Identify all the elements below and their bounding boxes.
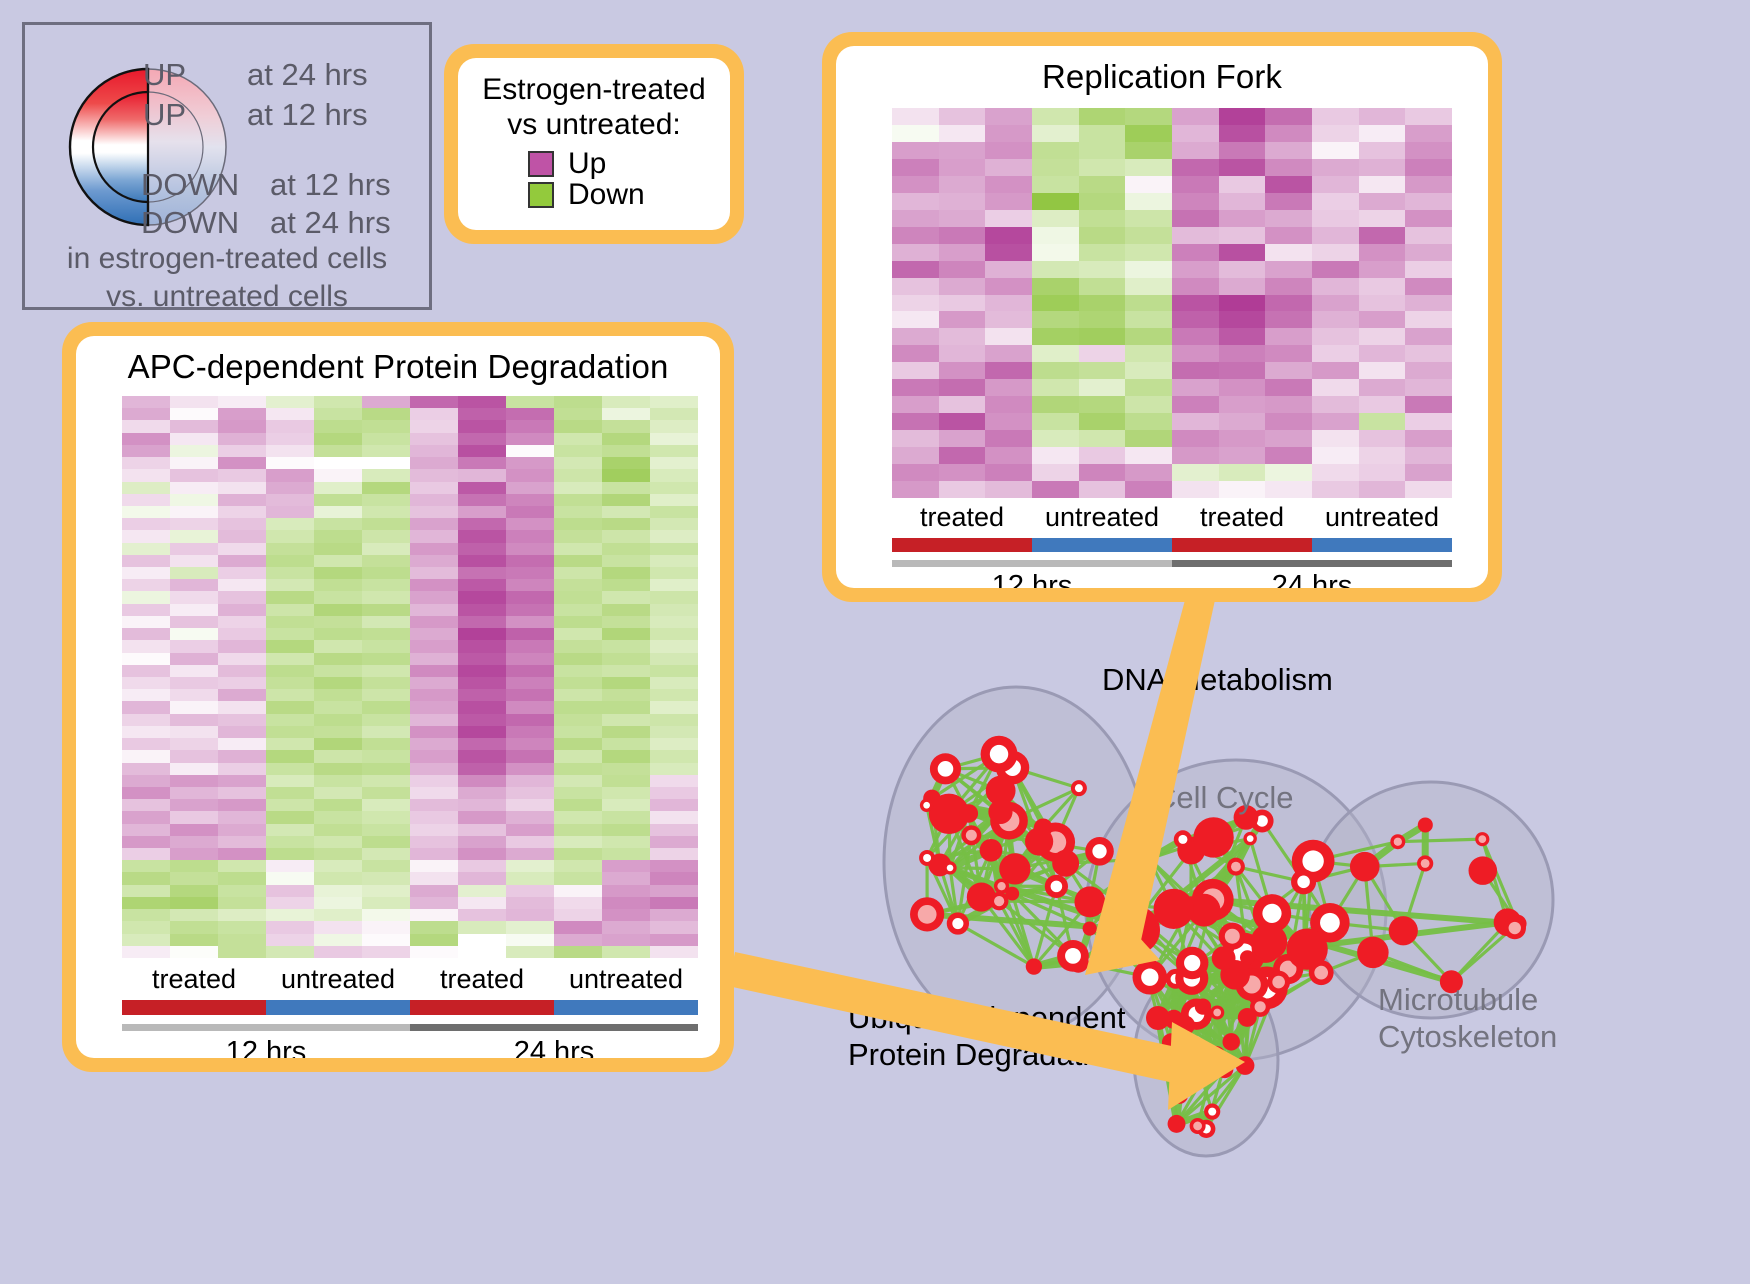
heatmap-cell: [218, 750, 266, 762]
heatmap-cell: [170, 665, 218, 677]
heatmap-cell: [170, 848, 218, 860]
heatmap-cell: [1359, 244, 1406, 261]
heatmap-cell: [314, 543, 362, 555]
heatmap-cell: [218, 860, 266, 872]
heatmap-cell: [362, 408, 410, 420]
heatmap-cell: [122, 726, 170, 738]
network-node: [1389, 916, 1418, 945]
heatmap-cell: [410, 604, 458, 616]
heatmap-cell: [362, 433, 410, 445]
heatmap-cell: [1405, 210, 1452, 227]
heatmap-cell: [122, 494, 170, 506]
heatmap-cell: [170, 408, 218, 420]
heatmap-cell: [458, 518, 506, 530]
apc-group-labels: treated untreated treated untreated: [122, 964, 698, 995]
heatmap-cell: [1172, 311, 1219, 328]
heatmap-cell: [1079, 413, 1126, 430]
apc-group-label-untreated-24: untreated: [554, 964, 698, 995]
heatmap-cell: [170, 885, 218, 897]
heatmap-cell: [602, 420, 650, 432]
heatmap-cell: [266, 763, 314, 775]
heatmap-cell: [266, 543, 314, 555]
heatmap-cell: [362, 848, 410, 860]
heatmap-cell: [266, 738, 314, 750]
heatmap-cell: [554, 653, 602, 665]
heatmap-cell: [218, 787, 266, 799]
heatmap-cell: [506, 396, 554, 408]
heatmap-cell: [410, 640, 458, 652]
heatmap-cell: [266, 591, 314, 603]
heatmap-cell: [1312, 481, 1359, 498]
network-node: [1083, 921, 1097, 935]
heatmap-cell: [218, 433, 266, 445]
heatmap-cell: [362, 567, 410, 579]
legend-heading: Estrogen-treated vs untreated:: [468, 72, 720, 143]
bar-treated-12: [892, 538, 1032, 552]
heatmap-cell: [266, 921, 314, 933]
heatmap-cell: [362, 543, 410, 555]
heatmap-cell: [170, 543, 218, 555]
heatmap-cell: [170, 860, 218, 872]
heatmap-cell: [218, 897, 266, 909]
network-node: [1193, 817, 1233, 857]
heatmap-cell: [458, 909, 506, 921]
heatmap-cell: [939, 295, 986, 312]
heatmap-cell: [362, 909, 410, 921]
heatmap-cell: [458, 506, 506, 518]
heatmap-cell: [602, 665, 650, 677]
heatmap-cell: [985, 328, 1032, 345]
heatmap-cell: [218, 579, 266, 591]
network-node: [1025, 827, 1053, 855]
heatmap-cell: [122, 750, 170, 762]
heatmap-cell: [1172, 176, 1219, 193]
heatmap-cell: [314, 836, 362, 848]
heatmap-cell: [218, 420, 266, 432]
heatmap-cell: [892, 193, 939, 210]
heatmap-cell: [1172, 108, 1219, 125]
heatmap-cell: [1079, 108, 1126, 125]
heatmap-cell: [506, 909, 554, 921]
heatmap-cell: [410, 872, 458, 884]
heatmap-cell: [506, 848, 554, 860]
heatmap-cell: [410, 848, 458, 860]
heatmap-cell: [266, 518, 314, 530]
heatmap-cell: [122, 934, 170, 946]
heatmap-cell: [554, 445, 602, 457]
heatmap-cell: [985, 176, 1032, 193]
apc-group-label-treated-24: treated: [410, 964, 554, 995]
heatmap-cell: [506, 738, 554, 750]
pathway-network-diagram: DNA Metabolism Cell Cycle Microtubule Cy…: [806, 600, 1750, 1279]
heatmap-cell: [410, 469, 458, 481]
heatmap-cell: [458, 726, 506, 738]
heatmap-cell: [266, 665, 314, 677]
network-node-core: [994, 896, 1004, 906]
replication-fork-title: Replication Fork: [836, 46, 1488, 96]
heatmap-cell: [650, 860, 698, 872]
heatmap-cell: [266, 934, 314, 946]
heatmap-cell: [602, 848, 650, 860]
heatmap-cell: [1312, 108, 1359, 125]
heatmap-cell: [1359, 159, 1406, 176]
heatmap-cell: [554, 604, 602, 616]
heatmap-cell: [650, 811, 698, 823]
heatmap-cell: [554, 494, 602, 506]
heatmap-cell: [362, 653, 410, 665]
heatmap-cell: [554, 872, 602, 884]
heatmap-cell: [362, 897, 410, 909]
network-node-core: [1075, 784, 1083, 792]
heatmap-cell: [554, 665, 602, 677]
replication-fork-treatment-bar: [892, 538, 1452, 552]
heatmap-cell: [985, 159, 1032, 176]
apc-heatmap: [122, 396, 698, 958]
heatmap-cell: [554, 518, 602, 530]
heatmap-cell: [1312, 193, 1359, 210]
heatmap-cell: [602, 628, 650, 640]
network-node: [1162, 1033, 1180, 1051]
heatmap-cell: [1359, 142, 1406, 159]
heatmap-cell: [170, 701, 218, 713]
heatmap-cell: [892, 481, 939, 498]
heatmap-cell: [554, 750, 602, 762]
network-node-core: [923, 802, 930, 809]
heatmap-cell: [458, 860, 506, 872]
heatmap-cell: [602, 433, 650, 445]
heatmap-cell: [362, 579, 410, 591]
heatmap-cell: [506, 420, 554, 432]
heatmap-cell: [458, 824, 506, 836]
network-node-core: [1213, 1009, 1221, 1017]
heatmap-cell: [1312, 447, 1359, 464]
heatmap-cell: [458, 665, 506, 677]
heatmap-cell: [170, 689, 218, 701]
heatmap-cell: [458, 445, 506, 457]
network-node-core: [1262, 904, 1281, 923]
heatmap-cell: [362, 640, 410, 652]
apc-time-label-24hrs: 24 hrs: [410, 1036, 698, 1058]
heatmap-cell: [1125, 295, 1172, 312]
heatmap-cell: [506, 689, 554, 701]
heatmap-cell: [218, 591, 266, 603]
heatmap-cell: [506, 860, 554, 872]
heatmap-cell: [892, 108, 939, 125]
heatmap-cell: [1265, 481, 1312, 498]
heatmap-cell: [1312, 413, 1359, 430]
heatmap-cell: [266, 824, 314, 836]
heatmap-cell: [362, 677, 410, 689]
heatmap-cell: [218, 885, 266, 897]
heatmap-cell: [1359, 125, 1406, 142]
heatmap-cell: [1125, 210, 1172, 227]
time-label-12hrs: 12 hrs: [892, 570, 1172, 588]
heatmap-cell: [1312, 396, 1359, 413]
heatmap-cell: [266, 872, 314, 884]
heatmap-cell: [362, 775, 410, 787]
heatmap-cell: [314, 848, 362, 860]
heatmap-cell: [218, 738, 266, 750]
heatmap-cell: [218, 909, 266, 921]
heatmap-cell: [985, 396, 1032, 413]
heatmap-cell: [554, 714, 602, 726]
heatmap-cell: [1265, 108, 1312, 125]
heatmap-cell: [939, 193, 986, 210]
heatmap-cell: [602, 604, 650, 616]
heatmap-cell: [1125, 464, 1172, 481]
heatmap-cell: [1125, 396, 1172, 413]
heatmap-cell: [170, 469, 218, 481]
heatmap-cell: [892, 210, 939, 227]
heatmap-cell: [1172, 362, 1219, 379]
network-node-core: [1184, 955, 1200, 971]
heatmap-cell: [985, 244, 1032, 261]
heatmap-cell: [506, 836, 554, 848]
heatmap-cell: [1405, 278, 1452, 295]
time-label-24hrs: 24 hrs: [1172, 570, 1452, 588]
heatmap-cell: [122, 897, 170, 909]
network-node: [1216, 1061, 1234, 1079]
heatmap-cell: [458, 763, 506, 775]
heatmap-cell: [1405, 311, 1452, 328]
heatmap-cell: [1265, 261, 1312, 278]
heatmap-cell: [170, 616, 218, 628]
network-node-core: [966, 830, 977, 841]
heatmap-cell: [602, 616, 650, 628]
heatmap-cell: [602, 579, 650, 591]
heatmap-cell: [554, 909, 602, 921]
heatmap-cell: [1312, 328, 1359, 345]
heatmap-cell: [1172, 295, 1219, 312]
heatmap-cell: [266, 726, 314, 738]
heatmap-cell: [892, 396, 939, 413]
network-node: [1195, 998, 1211, 1014]
heatmap-cell: [362, 689, 410, 701]
heatmap-cell: [602, 677, 650, 689]
heatmap-cell: [1172, 193, 1219, 210]
heatmap-cell: [554, 787, 602, 799]
heatmap-cell: [314, 677, 362, 689]
network-node: [1184, 1046, 1200, 1062]
heatmap-cell: [218, 689, 266, 701]
network-node-core: [952, 918, 963, 929]
heatmap-cell: [314, 506, 362, 518]
replication-fork-time-labels: 12 hrs 24 hrs: [892, 570, 1452, 588]
network-node-core: [1320, 913, 1340, 933]
heatmap-cell: [1219, 328, 1266, 345]
heatmap-cell: [266, 750, 314, 762]
heatmap-cell: [314, 750, 362, 762]
heatmap-cell: [218, 811, 266, 823]
heatmap-cell: [554, 689, 602, 701]
heatmap-cell: [1359, 176, 1406, 193]
heatmap-cell: [362, 482, 410, 494]
heatmap-cell: [122, 433, 170, 445]
heatmap-cell: [1405, 193, 1452, 210]
heatmap-cell: [122, 482, 170, 494]
heatmap-cell: [458, 469, 506, 481]
heatmap-cell: [1405, 244, 1452, 261]
heatmap-cell: [170, 934, 218, 946]
heatmap-cell: [554, 811, 602, 823]
network-node: [1251, 924, 1288, 961]
heatmap-cell: [1079, 159, 1126, 176]
heatmap-cell: [266, 420, 314, 432]
heatmap-cell: [122, 689, 170, 701]
heatmap-cell: [1265, 345, 1312, 362]
heatmap-cell: [218, 628, 266, 640]
heatmap-cell: [314, 591, 362, 603]
heatmap-cell: [170, 420, 218, 432]
heatmap-cell: [554, 616, 602, 628]
heatmap-cell: [362, 665, 410, 677]
heatmap-cell: [602, 408, 650, 420]
network-node-core: [1302, 850, 1323, 871]
heatmap-cell: [1312, 142, 1359, 159]
heatmap-cell: [1219, 142, 1266, 159]
heatmap-cell: [892, 125, 939, 142]
heatmap-cell: [266, 946, 314, 958]
network-node: [1052, 850, 1079, 877]
heatmap-cell: [1172, 447, 1219, 464]
heatmap-cell: [939, 345, 986, 362]
heatmap-cell: [218, 824, 266, 836]
heatmap-cell: [1079, 278, 1126, 295]
heatmap-cell: [122, 579, 170, 591]
heatmap-cell: [122, 946, 170, 958]
heatmap-cell: [1405, 447, 1452, 464]
heatmap-cell: [892, 176, 939, 193]
heatmap-cell: [218, 665, 266, 677]
heatmap-cell: [218, 457, 266, 469]
heatmap-cell: [939, 396, 986, 413]
network-node: [1350, 852, 1380, 882]
heatmap-cell: [1359, 227, 1406, 244]
heatmap-cell: [122, 775, 170, 787]
heatmap-cell: [554, 934, 602, 946]
heatmap-cell: [1032, 464, 1079, 481]
heatmap-cell: [506, 482, 554, 494]
heatmap-cell: [170, 555, 218, 567]
heatmap-cell: [1405, 295, 1452, 312]
heatmap-cell: [1079, 464, 1126, 481]
heatmap-cell: [410, 934, 458, 946]
heatmap-cell: [602, 494, 650, 506]
heatmap-cell: [1359, 362, 1406, 379]
heatmap-cell: [362, 885, 410, 897]
heatmap-cell: [1405, 227, 1452, 244]
cluster-label-dna-metabolism: DNA Metabolism: [1102, 662, 1333, 699]
heatmap-cell: [1405, 464, 1452, 481]
heatmap-cell: [1079, 430, 1126, 447]
network-node-core: [1092, 844, 1106, 858]
heatmap-cell: [218, 616, 266, 628]
heatmap-cell: [458, 396, 506, 408]
heatmap-cell: [892, 413, 939, 430]
heatmap-cell: [1219, 125, 1266, 142]
heatmap-cell: [410, 775, 458, 787]
heatmap-cell: [314, 909, 362, 921]
heatmap-cell: [892, 379, 939, 396]
heatmap-cell: [362, 396, 410, 408]
heatmap-cell: [458, 811, 506, 823]
heatmap-cell: [410, 787, 458, 799]
heatmap-cell: [410, 591, 458, 603]
heatmap-cell: [1032, 227, 1079, 244]
heatmap-cell: [458, 457, 506, 469]
heatmap-cell: [410, 811, 458, 823]
apc-time-bar: [122, 1024, 698, 1031]
heatmap-cell: [892, 447, 939, 464]
heatmap-cell: [554, 408, 602, 420]
heatmap-cell: [458, 616, 506, 628]
heatmap-cell: [266, 482, 314, 494]
heatmap-cell: [266, 433, 314, 445]
heatmap-cell: [170, 457, 218, 469]
group-label-treated-24: treated: [1172, 502, 1312, 533]
bar-treated-24: [1172, 538, 1312, 552]
heatmap-cell: [939, 362, 986, 379]
heatmap-cell: [1219, 379, 1266, 396]
heatmap-cell: [1219, 345, 1266, 362]
heatmap-cell: [1079, 125, 1126, 142]
heatmap-cell: [602, 811, 650, 823]
heatmap-cell: [1265, 176, 1312, 193]
heatmap-cell: [458, 567, 506, 579]
heatmap-cell: [650, 714, 698, 726]
heatmap-cell: [1032, 345, 1079, 362]
heatmap-cell: [410, 543, 458, 555]
heatmap-cell: [410, 836, 458, 848]
heatmap-cell: [314, 860, 362, 872]
heatmap-cell: [892, 244, 939, 261]
heatmap-cell: [1172, 328, 1219, 345]
heatmap-cell: [1219, 311, 1266, 328]
heatmap-cell: [650, 909, 698, 921]
heatmap-cell: [362, 811, 410, 823]
heatmap-cell: [650, 763, 698, 775]
heatmap-cell: [170, 604, 218, 616]
heatmap-cell: [362, 750, 410, 762]
heatmap-cell: [218, 934, 266, 946]
heatmap-cell: [506, 640, 554, 652]
heatmap-cell: [554, 482, 602, 494]
heatmap-cell: [650, 518, 698, 530]
heatmap-cell: [314, 445, 362, 457]
heatmap-cell: [506, 543, 554, 555]
heatmap-cell: [170, 579, 218, 591]
caption-line-2: vs. untreated cells: [25, 278, 429, 316]
group-label-untreated-24: untreated: [1312, 502, 1452, 533]
heatmap-cell: [506, 885, 554, 897]
heatmap-cell: [506, 408, 554, 420]
heatmap-cell: [985, 413, 1032, 430]
heatmap-cell: [314, 921, 362, 933]
heatmap-cell: [170, 653, 218, 665]
heatmap-cell: [985, 261, 1032, 278]
heatmap-cell: [122, 555, 170, 567]
heatmap-cell: [1079, 362, 1126, 379]
heatmap-cell: [1219, 278, 1266, 295]
heatmap-cell: [218, 640, 266, 652]
heatmap-cell: [218, 775, 266, 787]
heatmap-cell: [554, 396, 602, 408]
network-node-core: [1145, 855, 1153, 863]
heatmap-cell: [650, 836, 698, 848]
heatmap-cell: [218, 445, 266, 457]
network-node-core: [1175, 1091, 1183, 1099]
heatmap-cell: [1032, 413, 1079, 430]
